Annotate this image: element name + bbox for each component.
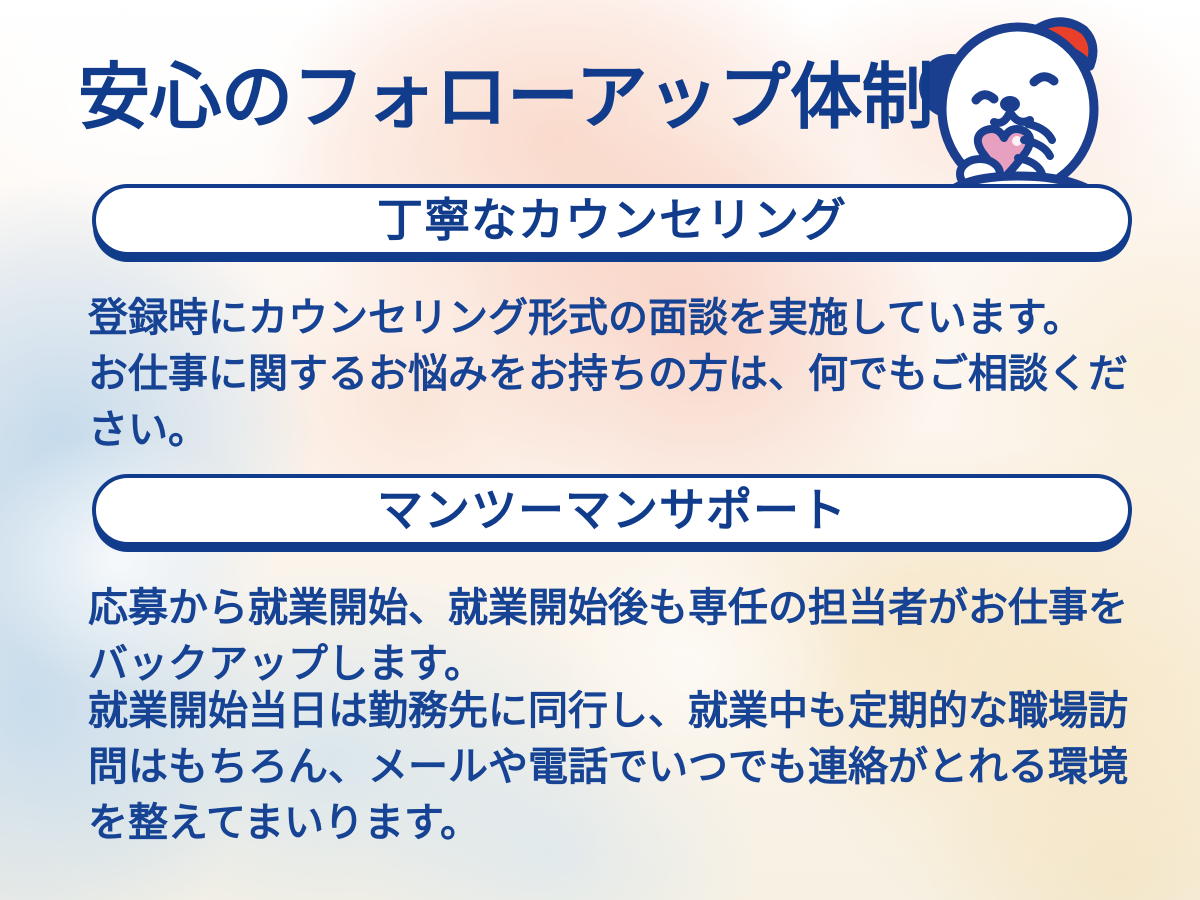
paragraph: お仕事に関するお悩みをお持ちの方は、何でもご相談ください。 (88, 346, 1148, 458)
section-heading-pill-man-to-man-support: マンツーマンサポート (92, 474, 1132, 546)
paragraph: 応募から就業開始、就業開始後も専任の担当者がお仕事をバックアップします。 (88, 580, 1148, 692)
section-heading-pill-counseling: 丁寧なカウンセリング (92, 184, 1132, 256)
title-row: 安心のフォローアップ体制 (78, 62, 1138, 172)
pill-label-man-to-man-support: マンツーマンサポート (377, 487, 847, 533)
promo-banner: 安心のフォローアップ体制 丁寧なカウンセリング 登録時にカウンセリング形式の面談… (0, 0, 1200, 900)
section-body-support-part1: 応募から就業開始、就業開始後も専任の担当者がお仕事をバックアップします。 (88, 580, 1148, 692)
pill-label-counseling: 丁寧なカウンセリング (377, 197, 847, 243)
paragraph: 登録時にカウンセリング形式の面談を実施しています。 (88, 290, 1148, 346)
section-body-counseling: 登録時にカウンセリング形式の面談を実施しています。 お仕事に関するお悩みをお持ち… (88, 290, 1148, 458)
page-title: 安心のフォローアップ体制 (78, 62, 1138, 134)
paragraph: 就業開始当日は勤務先に同行し、就業中も定期的な職場訪問はもちろん、メールや電話で… (88, 683, 1148, 851)
section-body-support-part2: 就業開始当日は勤務先に同行し、就業中も定期的な職場訪問はもちろん、メールや電話で… (88, 683, 1148, 851)
